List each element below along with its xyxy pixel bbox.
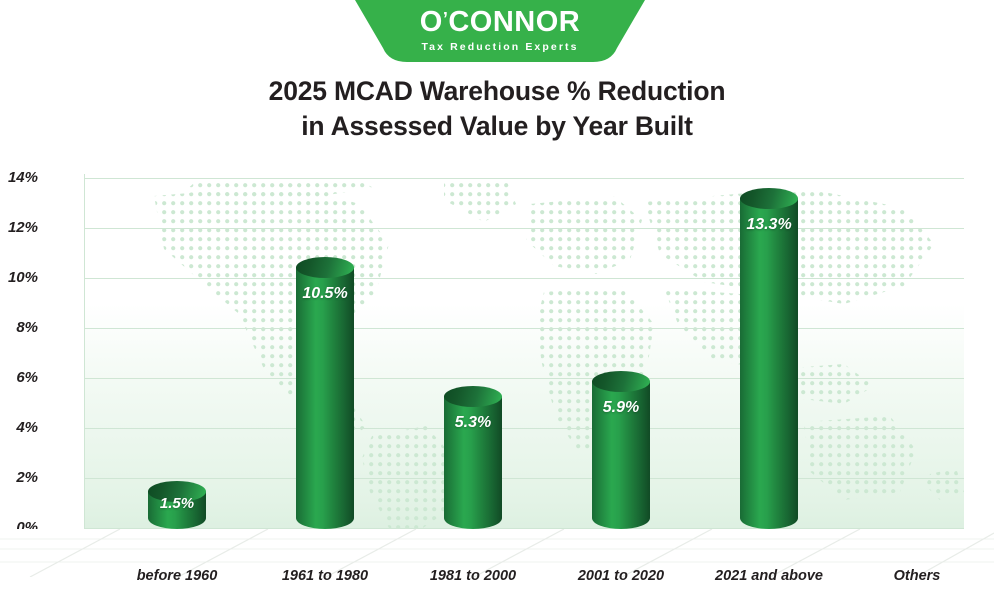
bar-value-label: 13.3% xyxy=(740,216,798,234)
company-logo-banner: O’CONNOR Tax Reduction Experts xyxy=(355,0,645,66)
x-label-1981-to-2000: 1981 to 2000 xyxy=(394,568,552,584)
bar-1961-to-1980[interactable]: 10.5% xyxy=(296,257,354,529)
bar-1981-to-2000[interactable]: 5.3% xyxy=(444,386,502,529)
chart-title-line-1: 2025 MCAD Warehouse % Reduction xyxy=(0,74,994,109)
x-label-before-1960: before 1960 xyxy=(98,568,256,584)
bar-2001-to-2020[interactable]: 5.9% xyxy=(592,371,650,529)
y-tick-label-10: 10% xyxy=(0,269,38,286)
bar-before-1960[interactable]: 1.5% xyxy=(148,481,206,529)
bar-top-ellipse xyxy=(444,386,502,407)
bar-body xyxy=(740,198,798,529)
y-tick-label-4: 4% xyxy=(0,419,38,436)
x-label-2001-to-2020: 2001 to 2020 xyxy=(542,568,700,584)
bar-value-label: 5.9% xyxy=(592,399,650,417)
bar-2021-and-above[interactable]: 13.3% xyxy=(740,188,798,529)
bar-value-label: 1.5% xyxy=(148,495,206,512)
bar-value-label: 5.3% xyxy=(444,414,502,432)
bar-body xyxy=(296,267,354,529)
bar-top-ellipse xyxy=(592,371,650,392)
bar-top-ellipse xyxy=(296,257,354,278)
logo-banner-shape xyxy=(355,0,645,66)
x-label-others: Others xyxy=(838,568,994,584)
y-tick-label-6: 6% xyxy=(0,369,38,386)
bar-top-ellipse xyxy=(740,188,798,209)
y-tick-label-14: 14% xyxy=(0,169,38,186)
bar-value-label: 10.5% xyxy=(296,285,354,303)
x-label-1961-to-1980: 1961 to 1980 xyxy=(246,568,404,584)
chart-page: O’CONNOR Tax Reduction Experts 2025 MCAD… xyxy=(0,0,994,612)
x-label-2021-and-above: 2021 and above xyxy=(690,568,848,584)
x-axis-labels: before 1960 1961 to 1980 1981 to 2000 20… xyxy=(84,568,964,598)
chart-title-line-2: in Assessed Value by Year Built xyxy=(0,109,994,144)
y-tick-label-12: 12% xyxy=(0,219,38,236)
bar-series: 1.5% 10.5% 5.3% 5.9% 13.3% xyxy=(84,178,964,529)
y-tick-label-8: 8% xyxy=(0,319,38,336)
chart-title: 2025 MCAD Warehouse % Reduction in Asses… xyxy=(0,74,994,144)
y-tick-label-2: 2% xyxy=(0,469,38,486)
